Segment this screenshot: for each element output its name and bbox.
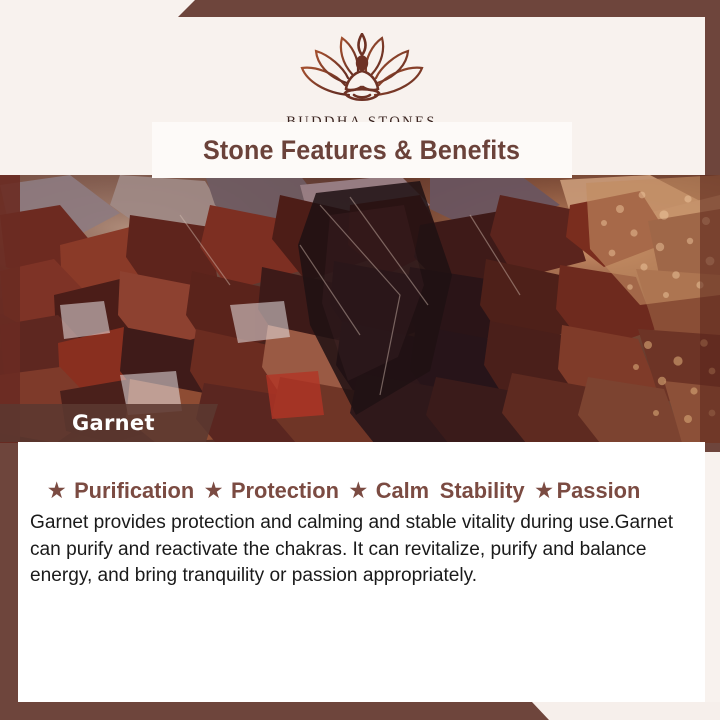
- star-icon: ★: [205, 478, 222, 503]
- page-title: Stone Features & Benefits: [203, 135, 520, 166]
- benefit-item-passion: ★Passion: [535, 478, 640, 504]
- top-decorative-bar: [0, 0, 720, 17]
- benefit-label: Passion: [557, 478, 641, 503]
- stone-name: Garnet: [72, 411, 155, 435]
- star-icon: ★: [48, 478, 65, 503]
- title-plate: Stone Features & Benefits: [152, 122, 572, 178]
- benefit-label: Calm: [376, 478, 429, 503]
- content-panel: ★Purification★Protection★CalmStability★P…: [18, 442, 705, 702]
- left-decorative-bar: [0, 440, 18, 720]
- benefit-label: Protection: [231, 478, 339, 503]
- benefit-item-purification: ★Purification: [48, 478, 194, 504]
- star-icon: ★: [350, 478, 367, 503]
- stone-name-banner: Garnet: [0, 404, 218, 442]
- stone-description: Garnet provides protection and calming a…: [30, 510, 691, 590]
- lotus-meditation-figure-icon: [287, 33, 437, 109]
- bottom-right-filler: [530, 702, 720, 720]
- star-icon: ★: [535, 478, 552, 503]
- benefit-item-protection: ★Protection: [205, 478, 339, 504]
- benefit-label: Purification: [74, 478, 194, 503]
- brand-lockup: BUDDHA STONES: [18, 33, 705, 131]
- benefits-list: ★Purification★Protection★CalmStability★P…: [48, 478, 679, 504]
- benefit-item-calm: ★Calm: [350, 478, 430, 504]
- stone-features-infographic-card: BUDDHA STONES: [0, 0, 720, 720]
- benefit-label: Stability: [440, 478, 525, 503]
- garnet-crystal-cluster-photo: [0, 175, 720, 443]
- benefit-item-stability: Stability: [440, 478, 525, 504]
